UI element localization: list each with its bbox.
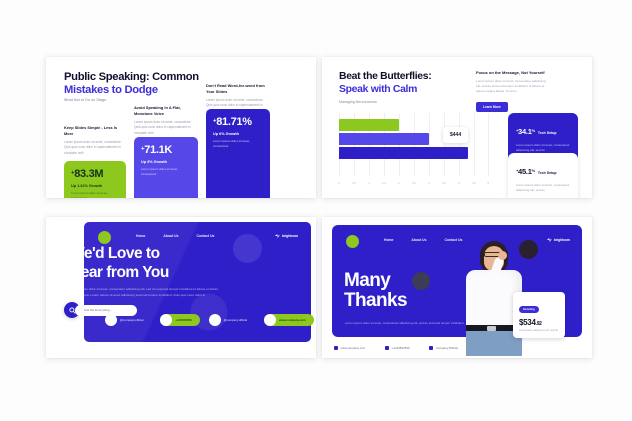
- footer-phone-label: +1234567890: [392, 346, 410, 350]
- slide2-card-2-body: Lorem ipsum dolor sit amet, consectetur …: [516, 183, 570, 194]
- slide1-stat-card-3: +81.71% Up 6% Growth Lorem ipsum dolor s…: [206, 109, 270, 198]
- contact-pill-instagram[interactable]: @company.official: [105, 314, 151, 326]
- slide3-brand: brightcom: [275, 234, 298, 238]
- chart-value-tooltip: $444: [443, 127, 468, 143]
- slide-thumbnail-1[interactable]: Public Speaking: Common Mistakes to Dodg…: [46, 57, 316, 198]
- footer-website-label: www.company.com: [341, 346, 366, 350]
- chart-x-tick: 3.5: [442, 182, 446, 185]
- slide1-stat-2-value: 71.1K: [144, 144, 172, 156]
- phone-icon: [385, 346, 389, 350]
- contact-pill-instagram-label: @company.official: [120, 318, 143, 322]
- chart-bar-2: [339, 133, 429, 145]
- slide2-card-2-suffix: %: [532, 168, 535, 173]
- slide2-aside-body: Lorem ipsum dolor sit amet, consectetur …: [476, 79, 548, 95]
- slide3-headline-line2: Hear from You: [70, 264, 169, 283]
- slide3-contact-pills: @company.official +123456789 @company.of…: [105, 314, 314, 326]
- slide2-card-2-label: Tech Setup: [538, 171, 557, 175]
- chart-x-tick: 4.5: [472, 182, 476, 185]
- slide4-nav-links: Home About Us Contact Us: [384, 238, 462, 242]
- slide3-headline-line1: We'd Love to: [70, 245, 169, 264]
- chart-x-tick: 0: [338, 182, 339, 185]
- slide1-stat-3-value: 81.71%: [216, 116, 252, 128]
- slide-thumbnail-grid: Public Speaking: Common Mistakes to Dodg…: [0, 0, 632, 421]
- footer-email-label: Company.Official: [436, 346, 458, 350]
- slide1-stat-card-2: +71.1K Up 3% Growth Lorem ipsum dolor si…: [134, 137, 198, 198]
- slide2-card-1-pct: 34.1: [518, 127, 532, 136]
- slide3-navbar: Home About Us Contact Us brightcom: [98, 231, 298, 245]
- price-card-amount: $534: [519, 318, 536, 327]
- slide3-body: Lorem ipsum dolor sit amet, consectetur …: [70, 287, 220, 299]
- globe-icon: [334, 346, 338, 350]
- contact-pill-phone-label: +123456789: [175, 318, 191, 322]
- brand-logo-icon: [275, 234, 280, 238]
- chart-x-tick: 4: [458, 182, 459, 185]
- slide1-column-3-heading: Don't Read Word-for-word from Your Slide…: [206, 83, 268, 94]
- slide3-nav-links: Home About Us Contact Us: [136, 234, 214, 238]
- facebook-icon: [209, 314, 221, 326]
- slide3-nav-home[interactable]: Home: [136, 234, 145, 238]
- slide1-stat-3-desc: Lorem ipsum dolor sit amet, consectetur: [213, 139, 263, 149]
- slide2-title-line1: Beat the Butterflies:: [339, 71, 431, 82]
- chart-x-tick: 2.5: [412, 182, 416, 185]
- slide1-column-1-heading: Keep Slides Simple - Less Is More: [64, 125, 124, 136]
- photo-bubble-1: [412, 272, 430, 290]
- slide-thumbnail-4[interactable]: Home About Us Contact Us brightcom Many …: [322, 217, 592, 358]
- slide4-nav-about-us[interactable]: About Us: [411, 238, 426, 242]
- contact-pill-facebook-label: @company.official: [224, 318, 247, 322]
- slide3-headline: We'd Love to Hear from You: [70, 245, 169, 282]
- chart-x-tick: 3: [428, 182, 429, 185]
- slide4-footer: www.company.com +1234567890 Company.Offi…: [334, 346, 458, 350]
- slide-thumbnail-2[interactable]: Beat the Butterflies: Speak with Calm Ma…: [322, 57, 592, 198]
- slide1-column-2: Avoid Speaking in A Flat, Monotone Voice…: [134, 105, 196, 136]
- learn-more-button[interactable]: Learn More: [476, 102, 508, 112]
- slide1-title-line1: Public Speaking: Common: [64, 70, 199, 84]
- footer-website[interactable]: www.company.com: [334, 346, 365, 350]
- slide2-aside: Focus on the Message, Not Yourself Lorem…: [476, 70, 548, 113]
- slide4-body: Lorem ipsum dolor sit amet, consectetur …: [345, 321, 470, 326]
- price-card-cents: .92: [536, 321, 542, 327]
- slide3-brand-name: brightcom: [282, 234, 298, 238]
- chart-x-tick: 1: [368, 182, 369, 185]
- slide4-headline: Many Thanks: [344, 271, 407, 311]
- price-card-sub: consectetur adipiscing elit, sed do: [519, 329, 559, 332]
- slide1-stat-2-desc: Lorem ipsum dolor sit amet, consectetur: [141, 167, 191, 177]
- slide4-headline-line2: Thanks: [344, 291, 407, 311]
- chart-bar-3: [339, 147, 468, 159]
- slide2-aside-heading: Focus on the Message, Not Yourself: [476, 70, 548, 76]
- slide2-stat-card-2: +45.1%Tech Setup Lorem ipsum dolor sit a…: [508, 153, 578, 198]
- slide2-subtitle: Managing Nervousness: [339, 100, 377, 104]
- contact-pill-website[interactable]: www.company.com: [264, 314, 314, 326]
- slide1-column-1-body: Lorem ipsum dolor sit amet, consectetur.…: [64, 140, 124, 156]
- chart-x-tick: 0.5: [352, 182, 356, 185]
- slide1-stat-1-desc: Lorem ipsum dolor sit amet, consectetur: [71, 191, 119, 198]
- slide1-stat-1-value: 83.3M: [74, 168, 103, 180]
- chart-bar-1: [339, 119, 399, 131]
- slide2-title-line2: Speak with Calm: [339, 84, 417, 95]
- slide4-brand-name: brightcom: [554, 238, 570, 242]
- slide3-nav-about-us[interactable]: About Us: [163, 234, 178, 238]
- contact-pill-facebook[interactable]: @company.official: [209, 314, 255, 326]
- chart-x-tick: 5: [488, 182, 489, 185]
- price-card-tag: Incoming: [519, 306, 539, 312]
- slide1-subtitle: What Not to Do on Stage: [64, 98, 106, 102]
- slide-thumbnail-3[interactable]: Home About Us Contact Us brightcom We'd …: [46, 217, 316, 358]
- slide2-card-1-label: Tech Setup: [538, 131, 557, 135]
- slide2-card-2-pct: 45.1: [518, 167, 532, 176]
- brand-logo-icon: [547, 238, 552, 242]
- footer-phone[interactable]: +1234567890: [385, 346, 409, 350]
- globe-icon: [264, 314, 276, 326]
- slide4-headline-line1: Many: [344, 271, 407, 291]
- chart-x-tick: 1.5: [382, 182, 386, 185]
- phone-icon: [160, 314, 172, 326]
- slide1-column-1: Keep Slides Simple - Less Is More Lorem …: [64, 125, 124, 156]
- slide1-stat-2-growth: Up 3% Growth: [141, 160, 191, 164]
- chart-x-tick: 2: [398, 182, 399, 185]
- slide3-nav-contact-us[interactable]: Contact Us: [197, 234, 215, 238]
- slide1-stat-1-growth: Up 1.41% Growth: [71, 184, 119, 188]
- logo-mark-icon: [98, 231, 111, 244]
- slide2-card-1-suffix: %: [532, 128, 535, 133]
- slide1-stat-card-1: +83.3M Up 1.41% Growth Lorem ipsum dolor…: [64, 161, 126, 198]
- slide4-brand: brightcom: [547, 238, 570, 242]
- footer-email[interactable]: Company.Official: [429, 346, 457, 350]
- slide2-bar-chart: 0 0.5 1 1.5 2 2.5 3 3.5 4 4.5 5 $444: [339, 113, 489, 185]
- instagram-icon: [105, 314, 117, 326]
- logo-mark-icon: [346, 235, 359, 248]
- slide1-column-2-heading: Avoid Speaking in A Flat, Monotone Voice: [134, 105, 196, 116]
- mail-icon: [429, 346, 433, 350]
- slide1-stat-3-growth: Up 6% Growth: [213, 132, 263, 136]
- price-card: Incoming $534.92 consectetur adipiscing …: [513, 292, 565, 338]
- slide1-column-2-body: Lorem ipsum dolor sit amet, consectetur.…: [134, 120, 196, 136]
- slide1-title-line2: Mistakes to Dodge: [64, 83, 158, 97]
- slide4-nav-home[interactable]: Home: [384, 238, 393, 242]
- contact-pill-website-label: www.company.com: [279, 318, 306, 322]
- contact-pill-phone[interactable]: +123456789: [160, 314, 199, 326]
